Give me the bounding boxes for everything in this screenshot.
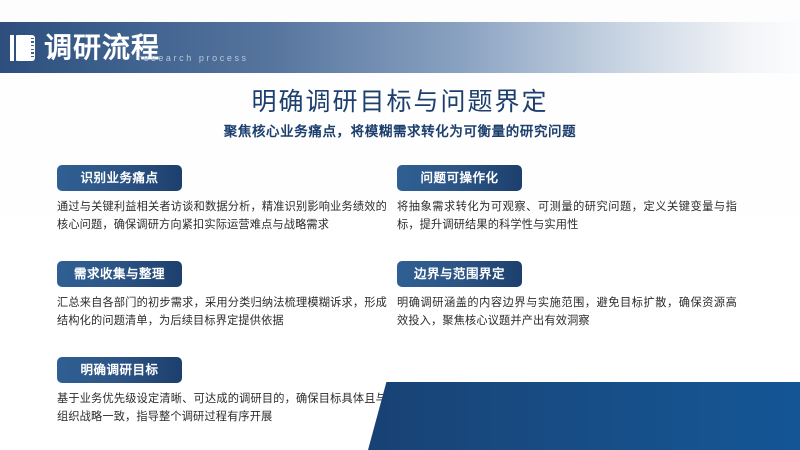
block-text: 通过与关键利益相关者访谈和数据分析，精准识别影响业务绩效的核心问题，确保调研方向… bbox=[57, 198, 387, 234]
block-badge-clarify-goals[interactable]: 明确调研目标 bbox=[57, 357, 182, 383]
header-subtitle: research process bbox=[138, 53, 249, 63]
block-badge-operationalize-question[interactable]: 问题可操作化 bbox=[397, 165, 522, 191]
block-text: 将抽象需求转化为可观察、可测量的研究问题，定义关键变量与指标，提升调研结果的科学… bbox=[397, 198, 737, 234]
page-subtitle: 聚焦核心业务痛点，将模糊需求转化为可衡量的研究问题 bbox=[0, 120, 800, 140]
content-block: 识别业务痛点 通过与关键利益相关者访谈和数据分析，精准识别影响业务绩效的核心问题… bbox=[57, 165, 397, 234]
block-text: 基于业务优先级设定清晰、可达成的调研目的，确保目标具体且与组织战略一致，指导整个… bbox=[57, 390, 387, 426]
block-text: 汇总来自各部门的初步需求，采用分类归纳法梳理模糊诉求，形成结构化的问题清单，为后… bbox=[57, 294, 387, 330]
content-block: 问题可操作化 将抽象需求转化为可观察、可测量的研究问题，定义关键变量与指标，提升… bbox=[397, 165, 737, 234]
content-block: 边界与范围界定 明确调研涵盖的内容边界与实施范围，避免目标扩散，确保资源高效投入… bbox=[397, 261, 737, 330]
notebook-icon bbox=[10, 34, 36, 62]
content-block: 需求收集与整理 汇总来自各部门的初步需求，采用分类归纳法梳理模糊诉求，形成结构化… bbox=[57, 261, 397, 330]
slide-canvas: 调研流程 research process 明确调研目标与问题界定 聚焦核心业务… bbox=[0, 0, 800, 450]
content-column-right: 问题可操作化 将抽象需求转化为可观察、可测量的研究问题，定义关键变量与指标，提升… bbox=[397, 165, 737, 330]
header-content: 调研流程 research process bbox=[10, 22, 249, 73]
block-badge-scope-definition[interactable]: 边界与范围界定 bbox=[397, 261, 522, 287]
page-title: 明确调研目标与问题界定 bbox=[0, 82, 800, 118]
block-badge-requirement-collection[interactable]: 需求收集与整理 bbox=[57, 261, 182, 287]
block-badge-identify-pain-points[interactable]: 识别业务痛点 bbox=[57, 165, 182, 191]
block-text: 明确调研涵盖的内容边界与实施范围，避免目标扩散，确保资源高效投入，聚焦核心议题并… bbox=[397, 294, 737, 330]
content-block: 明确调研目标 基于业务优先级设定清晰、可达成的调研目的，确保目标具体且与组织战略… bbox=[57, 357, 397, 426]
content-column-left: 识别业务痛点 通过与关键利益相关者访谈和数据分析，精准识别影响业务绩效的核心问题… bbox=[57, 165, 397, 426]
